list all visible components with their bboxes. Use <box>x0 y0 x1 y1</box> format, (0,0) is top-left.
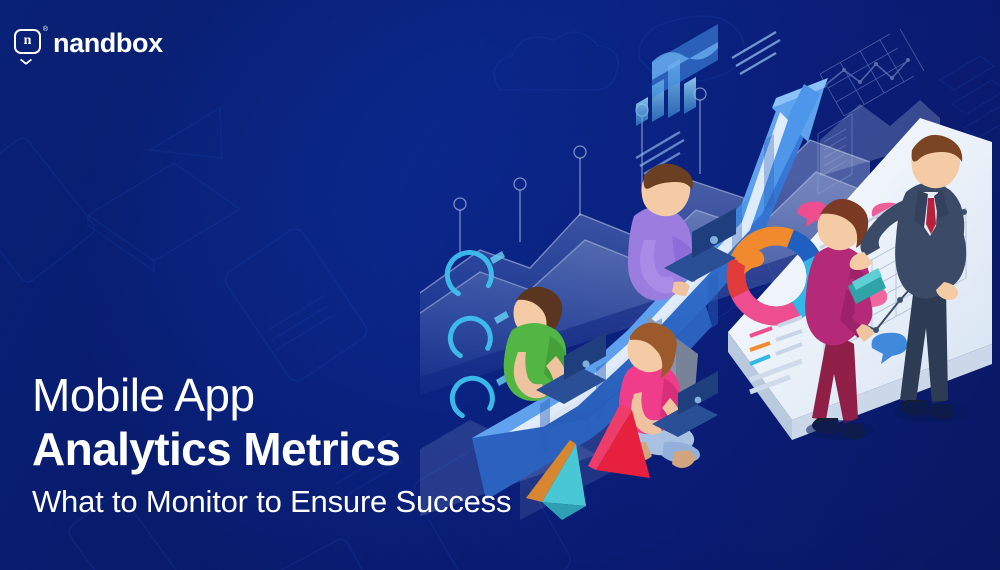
bubble-tail-icon <box>20 54 33 64</box>
speech-bubble-n-icon: n ® <box>14 29 44 59</box>
headline-line-2: Analytics Metrics <box>32 424 672 476</box>
brand-name: nandbox <box>53 28 163 59</box>
banner: n ® nandbox <box>0 0 1000 570</box>
headline-block: Mobile App Analytics Metrics What to Mon… <box>32 372 672 519</box>
headline-line-1: Mobile App <box>32 372 672 420</box>
brand-logo[interactable]: n ® nandbox <box>14 28 163 59</box>
registered-mark: ® <box>43 26 48 33</box>
line-chart-grid-faint <box>820 29 924 116</box>
logo-letter: n <box>24 34 32 48</box>
headline-line-3: What to Monitor to Ensure Success <box>32 485 672 519</box>
